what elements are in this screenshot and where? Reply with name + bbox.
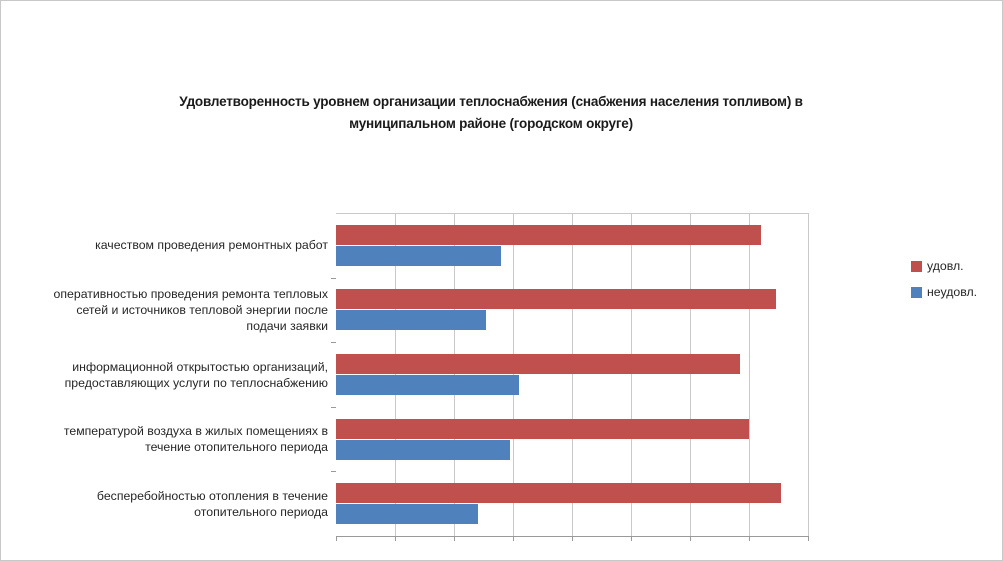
- value-axis-tick: [395, 536, 396, 541]
- category-label-line: качеством проведения ремонтных работ: [95, 238, 328, 252]
- category-label-line: оперативностью проведения ремонта теплов…: [54, 287, 328, 301]
- legend-item[interactable]: неудовл.: [911, 285, 977, 299]
- category-label-line: бесперебойностью отопления в течение: [97, 489, 328, 503]
- chart-title-line-2: муниципальном районе (городском округе): [349, 116, 633, 131]
- category-label-line: предоставляющих услуги по теплоснабжению: [65, 376, 328, 390]
- value-axis-tick: [513, 536, 514, 541]
- bar-udovl: [336, 354, 740, 374]
- bar-neudovl: [336, 375, 519, 395]
- chart-title: Удовлетворенность уровнем организации те…: [111, 91, 871, 135]
- category-label-line: течение отопительного периода: [145, 440, 328, 454]
- legend-label: неудовл.: [927, 285, 977, 299]
- bar-neudovl: [336, 440, 510, 460]
- value-axis-tick: [454, 536, 455, 541]
- chart-title-line-1: Удовлетворенность уровнем организации те…: [179, 94, 803, 109]
- category-label: информационной открытостью организаций,п…: [31, 359, 336, 391]
- category-axis-tick: [331, 342, 336, 343]
- category-axis-tick: [331, 407, 336, 408]
- category-label-line: температурой воздуха в жилых помещениях …: [64, 424, 328, 438]
- category-axis-labels: качеством проведения ремонтных работопер…: [21, 213, 336, 536]
- bar-neudovl: [336, 504, 478, 524]
- value-axis-tick: [749, 536, 750, 541]
- category-label: температурой воздуха в жилых помещениях …: [31, 423, 336, 455]
- category-axis-tick: [331, 471, 336, 472]
- legend-swatch-icon: [911, 287, 922, 298]
- value-axis-tick: [690, 536, 691, 541]
- category-label: оперативностью проведения ремонта теплов…: [31, 286, 336, 334]
- category-label: качеством проведения ремонтных работ: [31, 237, 336, 253]
- value-axis-tick: [631, 536, 632, 541]
- legend-swatch-icon: [911, 261, 922, 272]
- category-label-line: информационной открытостью организаций,: [72, 360, 328, 374]
- category-axis-tick: [331, 278, 336, 279]
- value-axis-tick: [336, 536, 337, 541]
- category-label-line: отопительного периода: [194, 505, 328, 519]
- category-label-line: сетей и источников тепловой энергии посл…: [76, 303, 328, 317]
- bar-neudovl: [336, 310, 486, 330]
- category-label-line: подачи заявки: [246, 319, 328, 333]
- plot-area: 01020304050607080: [336, 213, 808, 536]
- bar-udovl: [336, 225, 761, 245]
- chart-page: Удовлетворенность уровнем организации те…: [0, 0, 1003, 561]
- bar-udovl: [336, 483, 781, 503]
- bar-udovl: [336, 289, 776, 309]
- bar-neudovl: [336, 246, 501, 266]
- plot-right-border: [808, 213, 809, 536]
- legend-item[interactable]: удовл.: [911, 259, 977, 273]
- legend-label: удовл.: [927, 259, 964, 273]
- category-label: бесперебойностью отопления в течениеотоп…: [31, 488, 336, 520]
- value-axis-tick: [808, 536, 809, 541]
- value-axis-tick: [572, 536, 573, 541]
- chart-legend: удовл.неудовл.: [911, 259, 977, 311]
- bar-udovl: [336, 419, 749, 439]
